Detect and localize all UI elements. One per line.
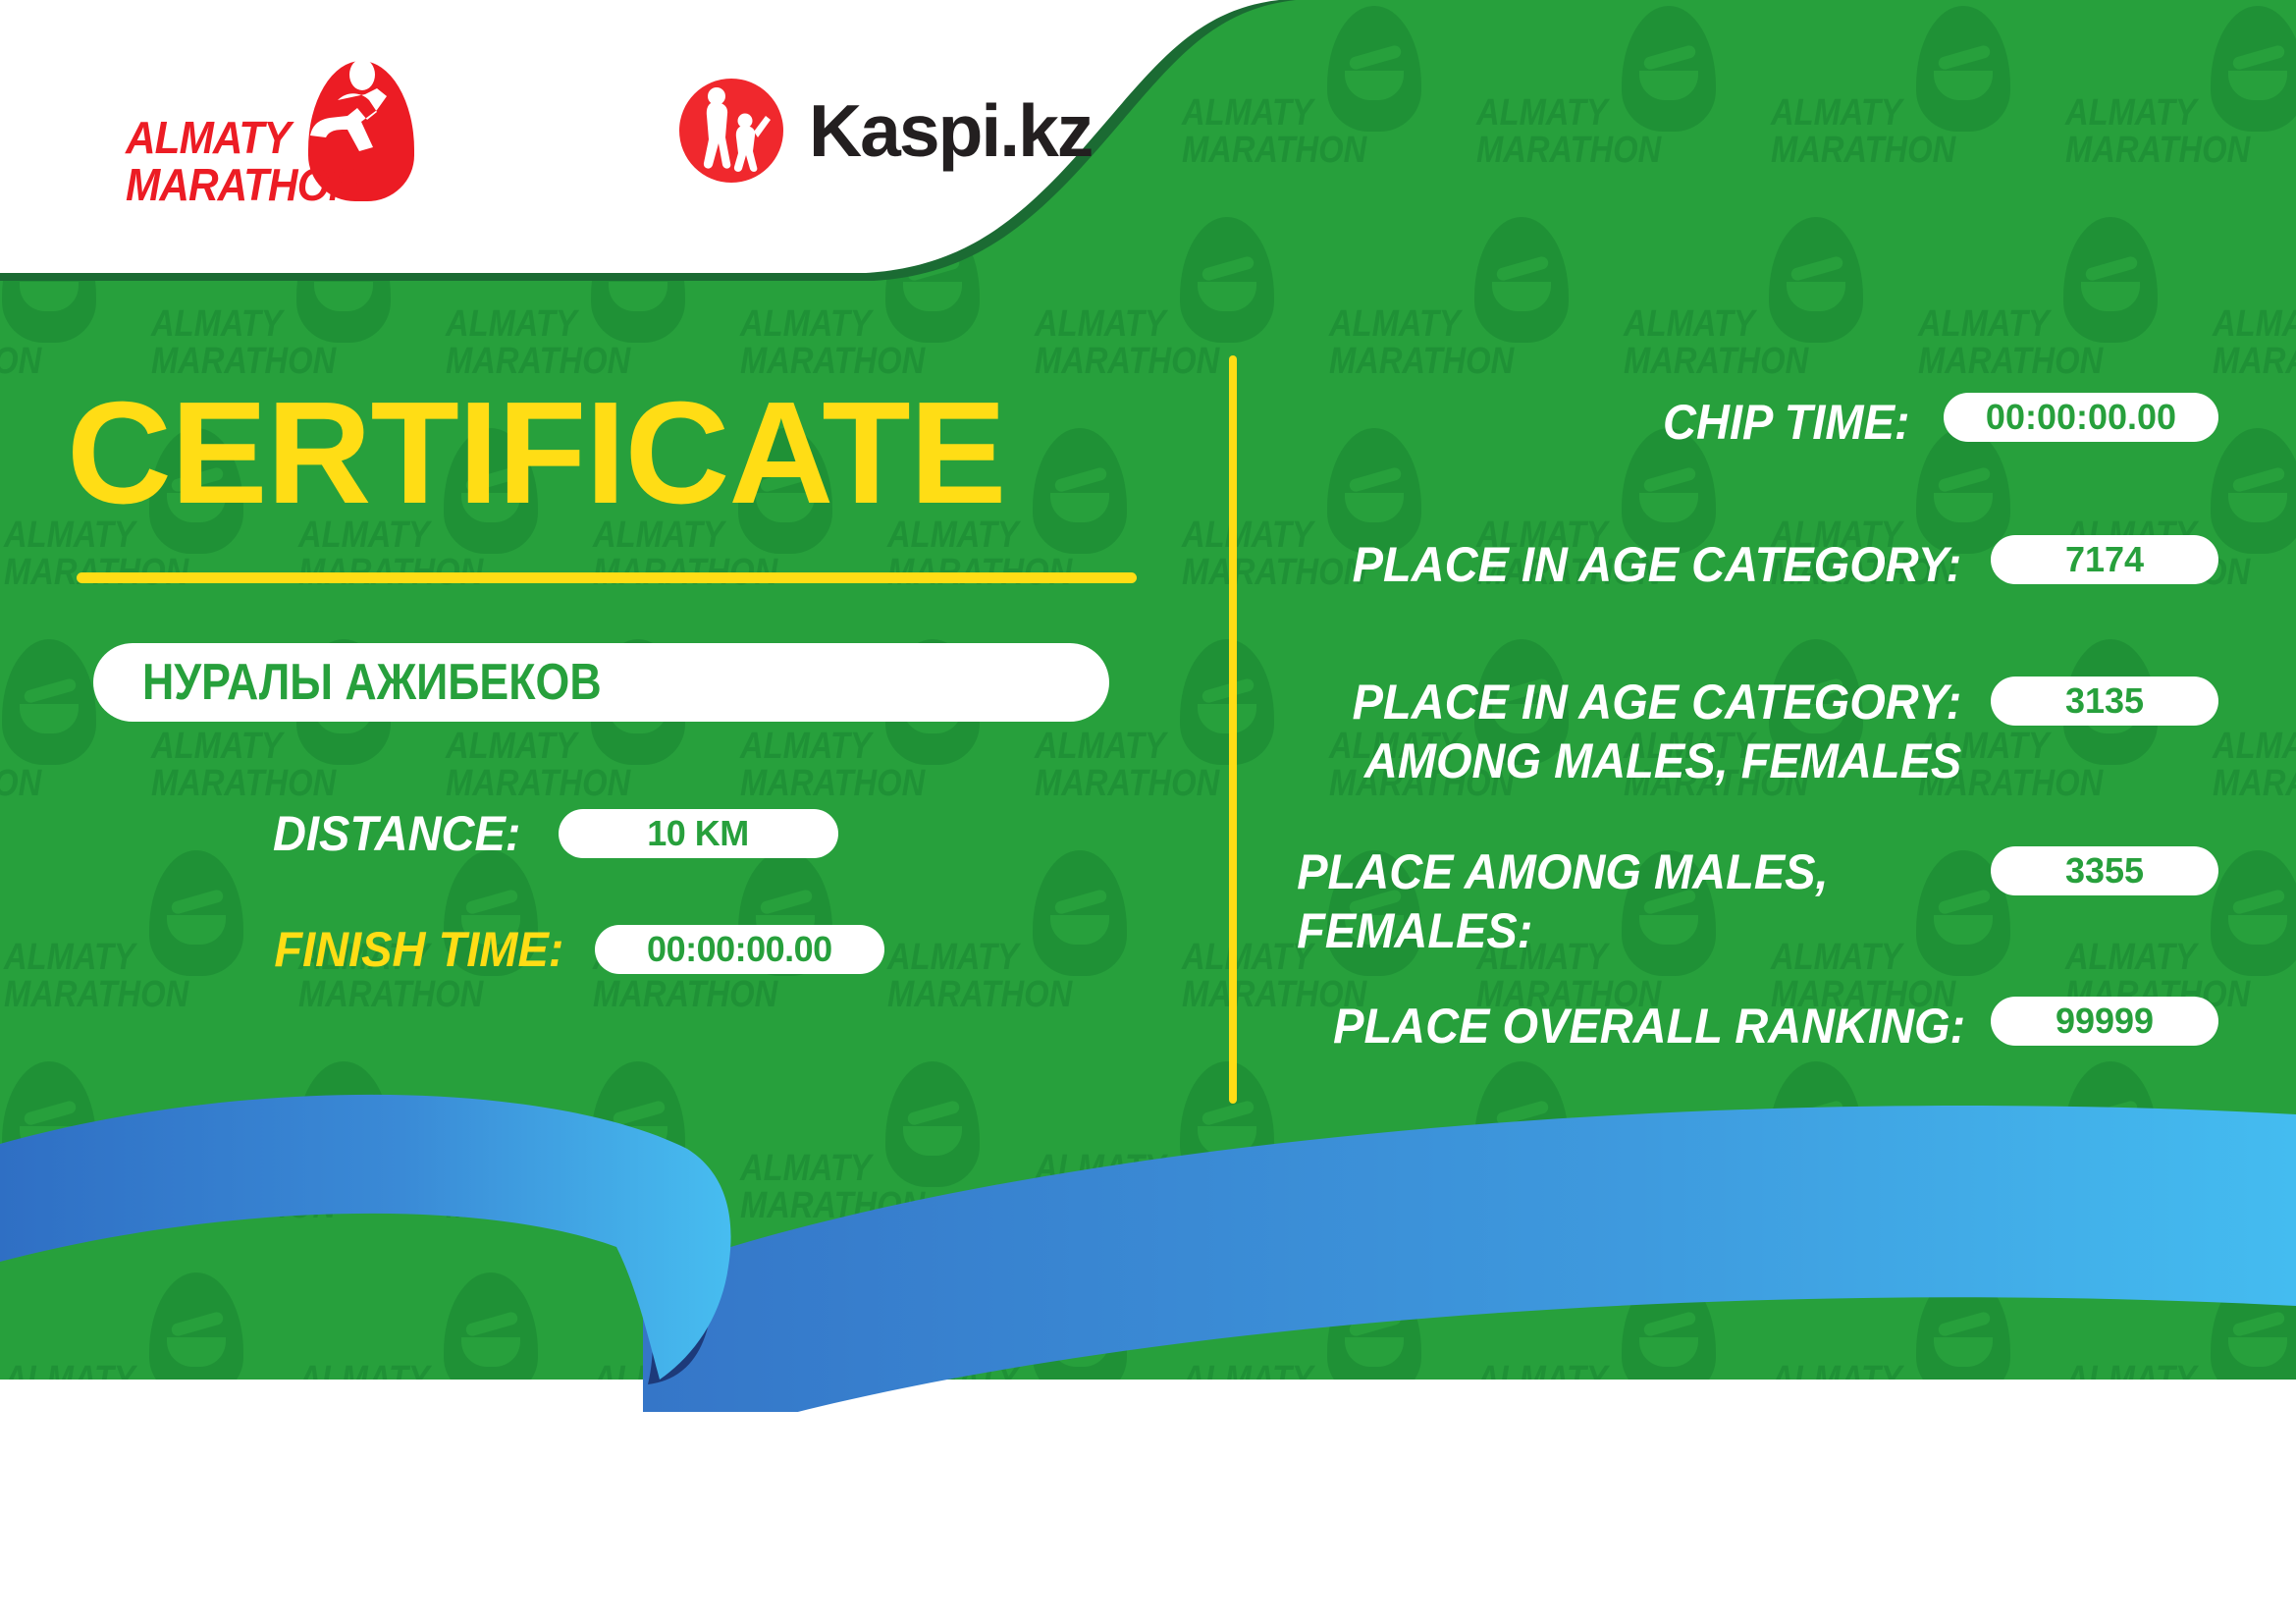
event-ribbon: APRIL 21 st RUN FOR SENSATIONS [0, 1085, 2296, 1419]
distance-label: DISTANCE: [273, 805, 520, 862]
watermark-drop-icon [1769, 217, 1863, 343]
almaty-marathon-logo: ALMATY MARATHON [126, 61, 450, 203]
watermark-line-1: ALMATY [151, 728, 283, 765]
place-age-category-gender-label: PLACE IN AGE CATEGORY: AMONG MALES, FEMA… [1352, 673, 1961, 790]
watermark-line-1: ALMATY [446, 728, 577, 765]
watermark-drop-icon [1916, 6, 2010, 132]
watermark-drop-icon [2211, 428, 2296, 554]
kaspi-people-icon [679, 79, 783, 183]
label-line-2: AMONG MALES, FEMALES [1352, 731, 1961, 790]
watermark-line-1: ALMATY [1035, 305, 1166, 343]
watermark-line-2: MARATHON [0, 343, 41, 380]
watermark-line-1: ALMATY [4, 939, 135, 976]
watermark-line-1: ALMATY [1771, 94, 1902, 132]
place-age-category-row: PLACE IN AGE CATEGORY: 7174 [648, 535, 2218, 594]
watermark-tile: ALMATYMARATHON [1472, 0, 1767, 211]
participant-name-value: НУРАЛЫ АЖИБЕКОВ [142, 653, 602, 712]
place-overall-row: PLACE OVERALL RANKING: 99999 [648, 997, 2218, 1056]
watermark-tile: ALMATYMARATHON [0, 844, 294, 1056]
watermark-line-2: MARATHON [446, 765, 630, 802]
watermark-line-1: ALMATY [740, 305, 872, 343]
watermark-line-1: ALMATY [1624, 305, 1755, 343]
place-among-gender-label: PLACE AMONG MALES, FEMALES: [1297, 842, 1961, 960]
place-overall-value: 99999 [1991, 997, 2218, 1046]
watermark-drop-icon [1622, 6, 1716, 132]
watermark-tile: ALMATYMARATHON [1178, 422, 1472, 633]
label-line-1: PLACE AMONG MALES, [1297, 842, 1961, 901]
sponsor-bar: Sulpak SANOFI Empowering Life ORIFLAME S… [0, 1412, 2296, 1624]
watermark-tile: ALMATYMARATHON [1472, 422, 1767, 633]
almaty-marathon-wordmark: ALMATY MARATHON [126, 114, 357, 208]
watermark-tile: ALMATYMARATHON [2061, 0, 2296, 211]
watermark-drop-icon [1474, 217, 1569, 343]
watermark-line-2: MARATHON [298, 976, 483, 1013]
chip-time-value: 00:00:00.00 [1944, 393, 2218, 442]
watermark-tile: ALMATYMARATHON [2209, 211, 2296, 422]
watermark-line-2: MARATHON [1329, 343, 1514, 380]
kaspi-wordmark: Kaspi.kz [809, 94, 1092, 168]
watermark-line-2: MARATHON [4, 976, 188, 1013]
logo-line-2: MARATHON [126, 161, 357, 208]
watermark-drop-icon [2063, 217, 2158, 343]
chip-time-row: CHIP TIME: 00:00:00.00 [648, 393, 2218, 452]
watermark-line-2: MARATHON [1771, 132, 1955, 169]
watermark-line-2: MARATHON [2065, 132, 2250, 169]
place-age-category-gender-row: PLACE IN AGE CATEGORY: AMONG MALES, FEMA… [648, 673, 2218, 790]
watermark-line-1: ALMATY [446, 305, 577, 343]
place-age-category-value: 7174 [1991, 535, 2218, 584]
watermark-line-1: ALMATY [1329, 305, 1461, 343]
watermark-line-2: MARATHON [1476, 132, 1661, 169]
watermark-tile: ALMATYMARATHON [2209, 633, 2296, 844]
finish-time-label: FINISH TIME: [274, 921, 563, 978]
watermark-line-2: MARATHON [2213, 765, 2296, 802]
place-among-gender-row: PLACE AMONG MALES, FEMALES: 3355 [648, 842, 2218, 960]
watermark-line-1: ALMATY [1476, 94, 1608, 132]
kaspi-logo: Kaspi.kz [679, 77, 1092, 185]
place-age-category-label: PLACE IN AGE CATEGORY: [1352, 535, 1961, 594]
place-overall-label: PLACE OVERALL RANKING: [1333, 997, 1965, 1056]
watermark-tile: ALMATYMARATHON [1620, 211, 1914, 422]
header-banner: ALMATY MARATHON Kaspi.kz [0, 0, 1296, 280]
watermark-tile: ALMATYMARATHON [1767, 0, 2061, 211]
watermark-tile: ALMATYMARATHON [1325, 211, 1620, 422]
watermark-tile: ALMATYMARATHON [2061, 422, 2296, 633]
watermark-drop-icon [2211, 6, 2296, 132]
watermark-line-2: MARATHON [151, 765, 336, 802]
watermark-drop-icon [2, 639, 96, 765]
watermark-tile: ALMATYMARATHON [1914, 211, 2209, 422]
watermark-line-2: MARATHON [1035, 343, 1219, 380]
watermark-line-1: ALMATY [151, 305, 283, 343]
chip-time-label: CHIP TIME: [1663, 393, 1910, 452]
watermark-line-1: ALMATY [2065, 94, 2197, 132]
watermark-line-2: MARATHON [1918, 343, 2103, 380]
place-among-gender-value: 3355 [1991, 846, 2218, 895]
label-line-1: PLACE IN AGE CATEGORY: [1352, 673, 1961, 731]
watermark-drop-icon [149, 850, 243, 976]
place-age-category-gender-value: 3135 [1991, 677, 2218, 726]
watermark-line-2: MARATHON [0, 765, 41, 802]
watermark-line-1: ALMATY [2213, 305, 2296, 343]
watermark-line-1: ALMATY [1918, 305, 2050, 343]
watermark-line-2: MARATHON [1624, 343, 1808, 380]
watermark-tile: ALMATYMARATHON [1767, 422, 2061, 633]
watermark-line-1: ALMATY [2213, 728, 2296, 765]
watermark-drop-icon [2211, 850, 2296, 976]
watermark-line-2: MARATHON [2213, 343, 2296, 380]
logo-line-1: ALMATY [126, 114, 357, 161]
certificate-page: ALMATYMARATHONALMATYMARATHONALMATYMARATH… [0, 0, 2296, 1624]
label-line-2: FEMALES: [1297, 901, 1961, 960]
watermark-drop-icon [1327, 6, 1421, 132]
